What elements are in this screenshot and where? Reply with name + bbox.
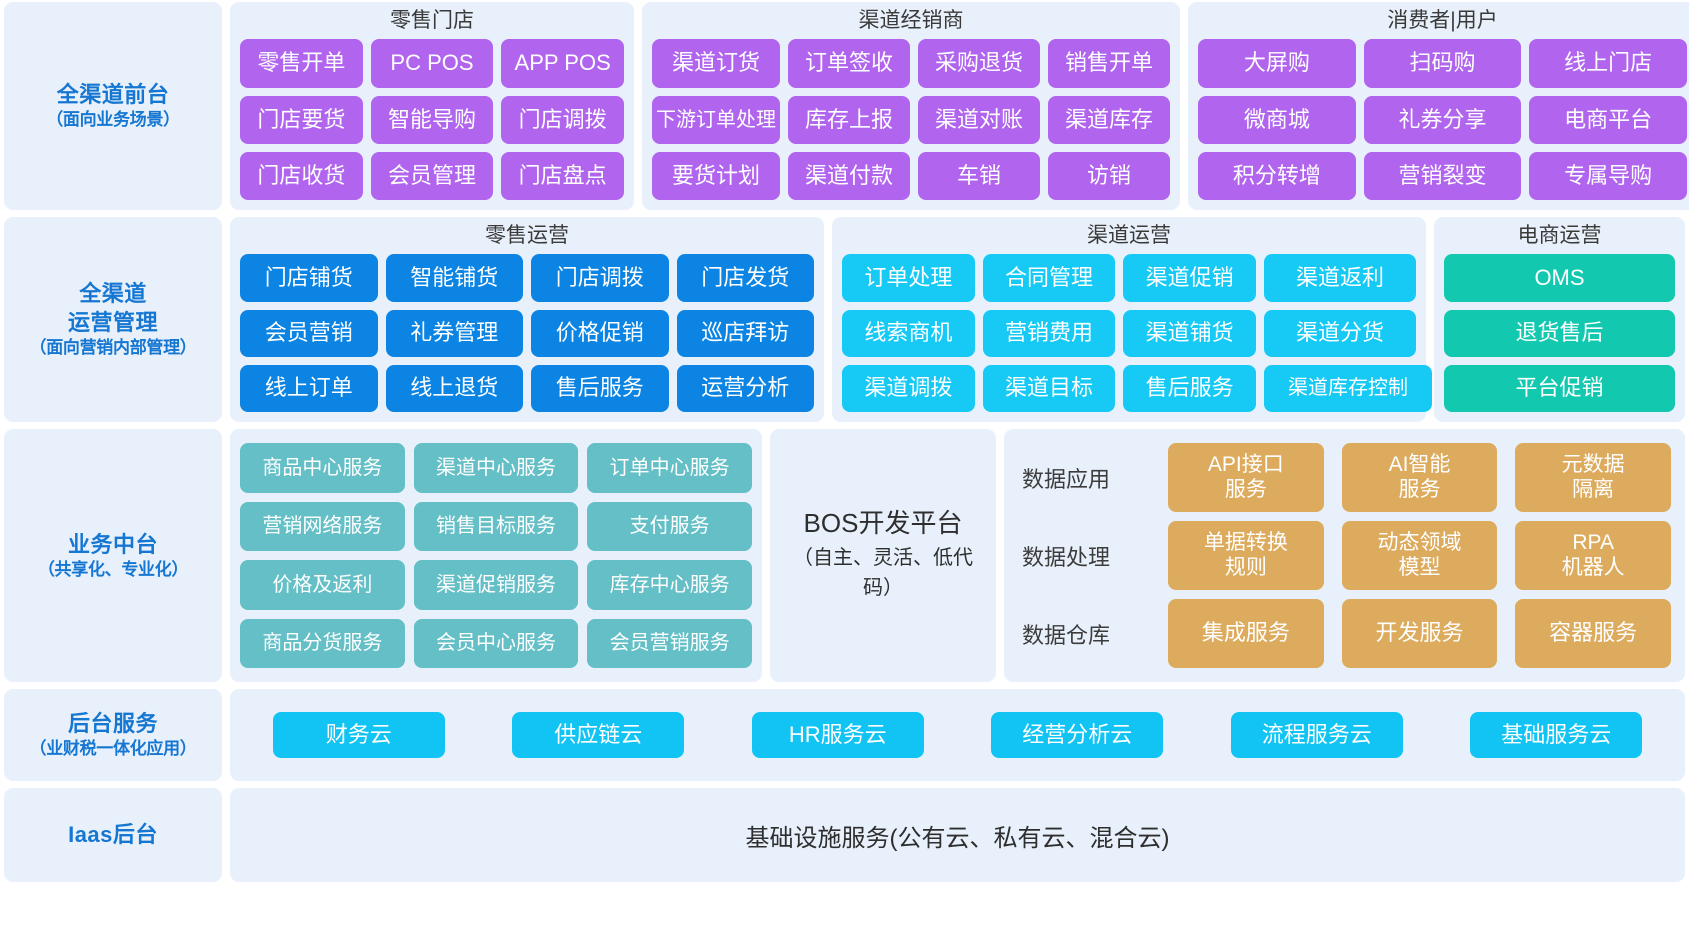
pill-data-proc-0[interactable]: 单据转换 规则: [1168, 521, 1324, 590]
group-grid-consumer-user: 大屏购 扫码购 线上门店 微商城 礼券分享 电商平台 积分转增 营销裂变 专属导…: [1198, 39, 1687, 200]
pill-data-proc-1-line1: 动态领域: [1377, 531, 1461, 556]
pill-data-app-0-line1: API接口: [1208, 453, 1284, 478]
band-label-operations-title-line2: 运营管理: [68, 308, 158, 337]
pill-data-app-0-line2: 服务: [1225, 478, 1267, 503]
pill-retail-7[interactable]: 会员管理: [371, 152, 494, 200]
data-row-label-warehouse: 数据仓库: [1022, 599, 1158, 668]
pill-data-app-2-line2: 隔离: [1572, 478, 1614, 503]
pill-chanops-3[interactable]: 渠道返利: [1264, 254, 1416, 301]
band-label-middle-platform-title: 业务中台: [68, 530, 158, 559]
pill-service-2[interactable]: 订单中心服务: [587, 443, 752, 493]
data-platform-rows: 数据应用 API接口 服务 AI智能 服务 元数据 隔离: [1022, 443, 1671, 668]
band-backend-services: 后台服务 （业财税一体化应用） 财务云 供应链云 HR服务云 经营分析云 流程服…: [4, 689, 1685, 781]
pill-service-10[interactable]: 会员中心服务: [414, 619, 579, 669]
pill-chanops-1[interactable]: 合同管理: [983, 254, 1116, 301]
pill-data-proc-2-line2: 机器人: [1562, 556, 1625, 581]
pill-channel-5[interactable]: 库存上报: [788, 96, 910, 144]
pill-consumer-0[interactable]: 大屏购: [1198, 39, 1356, 87]
pill-service-1[interactable]: 渠道中心服务: [414, 443, 579, 493]
pill-service-11[interactable]: 会员营销服务: [587, 619, 752, 669]
pill-channel-8[interactable]: 要货计划: [652, 152, 780, 200]
group-channel-dealer: 渠道经销商 渠道订货 订单签收 采购退货 销售开单 下游订单处理 库存上报 渠道…: [642, 2, 1180, 210]
pill-retailops-11[interactable]: 运营分析: [677, 365, 815, 412]
pill-retailops-5[interactable]: 礼券管理: [386, 310, 524, 357]
pill-retail-1[interactable]: PC POS: [371, 39, 494, 87]
pill-channel-6[interactable]: 渠道对账: [918, 96, 1040, 144]
pill-ecomops-2[interactable]: 平台促销: [1444, 365, 1675, 412]
architecture-diagram: 全渠道前台 （面向业务场景） 零售门店 零售开单 PC POS APP POS …: [0, 0, 1689, 945]
pill-chanops-10[interactable]: 售后服务: [1123, 365, 1256, 412]
group-title-retail-store: 零售门店: [240, 6, 624, 36]
data-row-label-applications: 数据应用: [1022, 443, 1158, 512]
pill-retailops-3[interactable]: 门店发货: [677, 254, 815, 301]
group-title-consumer-user: 消费者|用户: [1198, 6, 1687, 36]
data-row-processing: 数据处理 单据转换 规则 动态领域 模型 RPA 机器人: [1022, 521, 1671, 590]
band-label-frontend: 全渠道前台 （面向业务场景）: [4, 2, 222, 210]
pill-chanops-8[interactable]: 渠道调拨: [842, 365, 975, 412]
pill-service-7[interactable]: 渠道促销服务: [414, 560, 579, 610]
band-label-frontend-subtitle: （面向业务场景）: [46, 109, 180, 132]
group-grid-retail-operations: 门店铺货 智能铺货 门店调拨 门店发货 会员营销 礼券管理 价格促销 巡店拜访 …: [240, 254, 814, 412]
pill-retailops-4[interactable]: 会员营销: [240, 310, 378, 357]
pill-backend-0[interactable]: 财务云: [273, 712, 445, 758]
pill-data-app-1-line2: 服务: [1398, 478, 1440, 503]
pill-retailops-2[interactable]: 门店调拨: [531, 254, 669, 301]
pill-retail-3[interactable]: 门店要货: [240, 96, 363, 144]
group-title-channel-operations: 渠道运营: [842, 221, 1416, 251]
group-title-channel-dealer: 渠道经销商: [652, 6, 1170, 36]
pill-service-6[interactable]: 价格及返利: [240, 560, 405, 610]
pill-retail-4[interactable]: 智能导购: [371, 96, 494, 144]
group-grid-retail-store: 零售开单 PC POS APP POS 门店要货 智能导购 门店调拨 门店收货 …: [240, 39, 624, 200]
pill-data-app-1[interactable]: AI智能 服务: [1342, 443, 1498, 512]
pill-retailops-9[interactable]: 线上退货: [386, 365, 524, 412]
group-grid-channel-dealer: 渠道订货 订单签收 采购退货 销售开单 下游订单处理 库存上报 渠道对账 渠道库…: [652, 39, 1170, 200]
backend-services-list: 财务云 供应链云 HR服务云 经营分析云 流程服务云 基础服务云: [244, 712, 1671, 758]
band-label-iaas-title: Iaas后台: [68, 820, 158, 849]
pill-consumer-8[interactable]: 专属导购: [1529, 152, 1687, 200]
group-title-retail-operations: 零售运营: [240, 221, 814, 251]
pill-data-proc-2[interactable]: RPA 机器人: [1515, 521, 1671, 590]
band-label-operations: 全渠道 运营管理 （面向营销内部管理）: [4, 217, 222, 422]
group-retail-operations: 零售运营 门店铺货 智能铺货 门店调拨 门店发货 会员营销 礼券管理 价格促销 …: [230, 217, 824, 422]
band-label-frontend-title: 全渠道前台: [57, 80, 170, 109]
pill-retailops-7[interactable]: 巡店拜访: [677, 310, 815, 357]
pill-channel-0[interactable]: 渠道订货: [652, 39, 780, 87]
pill-data-wh-1[interactable]: 开发服务: [1342, 599, 1498, 668]
pill-data-wh-2[interactable]: 容器服务: [1515, 599, 1671, 668]
group-backend-services: 财务云 供应链云 HR服务云 经营分析云 流程服务云 基础服务云: [230, 689, 1685, 781]
pill-data-wh-0[interactable]: 集成服务: [1168, 599, 1324, 668]
pill-backend-3[interactable]: 经营分析云: [991, 712, 1163, 758]
pill-retailops-0[interactable]: 门店铺货: [240, 254, 378, 301]
pill-channel-3[interactable]: 销售开单: [1048, 39, 1170, 87]
pill-retailops-1[interactable]: 智能铺货: [386, 254, 524, 301]
pill-service-8[interactable]: 库存中心服务: [587, 560, 752, 610]
pill-consumer-3[interactable]: 微商城: [1198, 96, 1356, 144]
group-bos-platform: BOS开发平台 （自主、灵活、低代码）: [770, 429, 996, 682]
bos-platform-subtitle: （自主、灵活、低代码）: [780, 543, 986, 603]
pill-retailops-8[interactable]: 线上订单: [240, 365, 378, 412]
band-label-backend-services-title: 后台服务: [68, 709, 158, 738]
pill-consumer-4[interactable]: 礼券分享: [1364, 96, 1522, 144]
pill-service-5[interactable]: 支付服务: [587, 502, 752, 552]
pill-data-app-2-line1: 元数据: [1562, 453, 1625, 478]
pill-data-proc-1-line2: 模型: [1398, 556, 1440, 581]
pill-retail-6[interactable]: 门店收货: [240, 152, 363, 200]
band-iaas: Iaas后台 基础设施服务(公有云、私有云、混合云): [4, 788, 1685, 882]
pill-channel-1[interactable]: 订单签收: [788, 39, 910, 87]
group-data-platform: 数据应用 API接口 服务 AI智能 服务 元数据 隔离: [1004, 429, 1685, 682]
pill-chanops-7[interactable]: 渠道分货: [1264, 310, 1416, 357]
group-ecommerce-operations: 电商运营 OMS 退货售后 平台促销: [1434, 217, 1685, 422]
pill-service-3[interactable]: 营销网络服务: [240, 502, 405, 552]
pill-backend-4[interactable]: 流程服务云: [1231, 712, 1403, 758]
pill-retail-5[interactable]: 门店调拨: [501, 96, 624, 144]
data-row-label-processing: 数据处理: [1022, 521, 1158, 590]
data-row-cells-warehouse: 集成服务 开发服务 容器服务: [1168, 599, 1671, 668]
group-retail-store: 零售门店 零售开单 PC POS APP POS 门店要货 智能导购 门店调拨 …: [230, 2, 634, 210]
pill-consumer-1[interactable]: 扫码购: [1364, 39, 1522, 87]
pill-backend-2[interactable]: HR服务云: [752, 712, 924, 758]
band-label-iaas: Iaas后台: [4, 788, 222, 882]
group-title-ecommerce-operations: 电商运营: [1444, 221, 1675, 251]
data-row-warehouse: 数据仓库 集成服务 开发服务 容器服务: [1022, 599, 1671, 668]
pill-consumer-7[interactable]: 营销裂变: [1364, 152, 1522, 200]
pill-data-proc-0-line1: 单据转换: [1204, 531, 1288, 556]
band-label-backend-services-subtitle: （业财税一体化应用）: [30, 738, 197, 761]
band-operations: 全渠道 运营管理 （面向营销内部管理） 零售运营 门店铺货 智能铺货 门店调拨 …: [4, 217, 1685, 422]
group-shared-services: 商品中心服务 渠道中心服务 订单中心服务 营销网络服务 销售目标服务 支付服务 …: [230, 429, 762, 682]
group-consumer-user: 消费者|用户 大屏购 扫码购 线上门店 微商城 礼券分享 电商平台 积分转增 营…: [1188, 2, 1689, 210]
group-grid-ecommerce-operations: OMS 退货售后 平台促销: [1444, 254, 1675, 412]
band-label-operations-title-line1: 全渠道: [79, 279, 147, 308]
data-row-cells-applications: API接口 服务 AI智能 服务 元数据 隔离: [1168, 443, 1671, 512]
band-middle-platform: 业务中台 （共享化、专业化） 商品中心服务 渠道中心服务 订单中心服务 营销网络…: [4, 429, 1685, 682]
pill-channel-2[interactable]: 采购退货: [918, 39, 1040, 87]
pill-data-app-0[interactable]: API接口 服务: [1168, 443, 1324, 512]
pill-service-4[interactable]: 销售目标服务: [414, 502, 579, 552]
group-iaas-infrastructure: 基础设施服务(公有云、私有云、混合云): [230, 788, 1685, 882]
pill-retail-0[interactable]: 零售开单: [240, 39, 363, 87]
band-frontend: 全渠道前台 （面向业务场景） 零售门店 零售开单 PC POS APP POS …: [4, 2, 1685, 210]
pill-channel-4[interactable]: 下游订单处理: [652, 96, 780, 144]
pill-data-proc-0-line2: 规则: [1225, 556, 1267, 581]
band-label-middle-platform-subtitle: （共享化、专业化）: [38, 559, 188, 582]
pill-channel-11[interactable]: 访销: [1048, 152, 1170, 200]
pill-ecomops-0[interactable]: OMS: [1444, 254, 1675, 301]
pill-consumer-5[interactable]: 电商平台: [1529, 96, 1687, 144]
group-grid-channel-operations: 订单处理 合同管理 渠道促销 渠道返利 线索商机 营销费用 渠道铺货 渠道分货 …: [842, 254, 1416, 412]
data-row-applications: 数据应用 API接口 服务 AI智能 服务 元数据 隔离: [1022, 443, 1671, 512]
pill-consumer-2[interactable]: 线上门店: [1529, 39, 1687, 87]
pill-channel-9[interactable]: 渠道付款: [788, 152, 910, 200]
band-label-middle-platform: 业务中台 （共享化、专业化）: [4, 429, 222, 682]
pill-ecomops-1[interactable]: 退货售后: [1444, 310, 1675, 357]
pill-chanops-6[interactable]: 渠道铺货: [1123, 310, 1256, 357]
pill-service-9[interactable]: 商品分货服务: [240, 619, 405, 669]
pill-retail-8[interactable]: 门店盘点: [501, 152, 624, 200]
pill-chanops-9[interactable]: 渠道目标: [983, 365, 1116, 412]
pill-channel-7[interactable]: 渠道库存: [1048, 96, 1170, 144]
group-grid-shared-services: 商品中心服务 渠道中心服务 订单中心服务 营销网络服务 销售目标服务 支付服务 …: [240, 443, 752, 668]
pill-channel-10[interactable]: 车销: [918, 152, 1040, 200]
pill-retail-2[interactable]: APP POS: [501, 39, 624, 87]
pill-chanops-5[interactable]: 营销费用: [983, 310, 1116, 357]
pill-backend-1[interactable]: 供应链云: [512, 712, 684, 758]
group-channel-operations: 渠道运营 订单处理 合同管理 渠道促销 渠道返利 线索商机 营销费用 渠道铺货 …: [832, 217, 1426, 422]
band-label-backend-services: 后台服务 （业财税一体化应用）: [4, 689, 222, 781]
pill-retailops-10[interactable]: 售后服务: [531, 365, 669, 412]
pill-chanops-4[interactable]: 线索商机: [842, 310, 975, 357]
pill-chanops-11[interactable]: 渠道库存控制: [1264, 365, 1432, 412]
pill-retailops-6[interactable]: 价格促销: [531, 310, 669, 357]
pill-service-0[interactable]: 商品中心服务: [240, 443, 405, 493]
pill-data-proc-1[interactable]: 动态领域 模型: [1342, 521, 1498, 590]
pill-data-app-1-line1: AI智能: [1389, 453, 1451, 478]
band-label-operations-subtitle: （面向营销内部管理）: [30, 337, 197, 360]
data-row-cells-processing: 单据转换 规则 动态领域 模型 RPA 机器人: [1168, 521, 1671, 590]
pill-consumer-6[interactable]: 积分转增: [1198, 152, 1356, 200]
pill-chanops-0[interactable]: 订单处理: [842, 254, 975, 301]
iaas-infrastructure-text: 基础设施服务(公有云、私有云、混合云): [746, 818, 1170, 853]
pill-chanops-2[interactable]: 渠道促销: [1123, 254, 1256, 301]
pill-data-proc-2-line1: RPA: [1572, 531, 1614, 556]
pill-backend-5[interactable]: 基础服务云: [1470, 712, 1642, 758]
bos-platform-title: BOS开发平台: [804, 504, 963, 543]
pill-data-app-2[interactable]: 元数据 隔离: [1515, 443, 1671, 512]
